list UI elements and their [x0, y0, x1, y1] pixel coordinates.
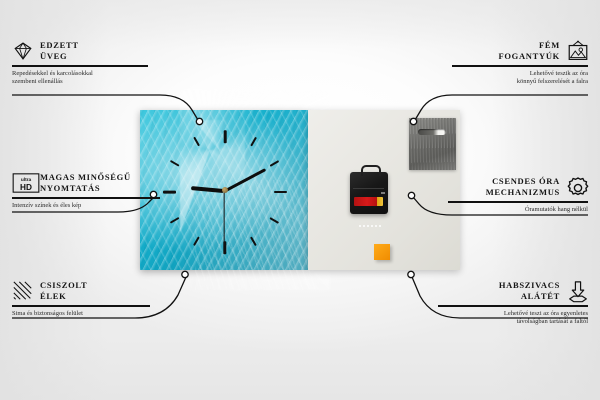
callout-title-line1: FÉM — [498, 40, 560, 51]
callout-divider — [452, 65, 588, 67]
callout-desc-line2: könnyű felszerelését a falra — [438, 78, 588, 87]
callout-desc-line1: Lehetővé teszi az óra egyenletes — [428, 310, 588, 319]
hanger-slot — [418, 129, 446, 135]
metal-hanger-plate — [409, 118, 456, 170]
callout-metal-handles[interactable]: FÉM FOGANTYÚK Lehetővé teszik az óra kön… — [438, 40, 588, 87]
callout-divider — [12, 305, 150, 307]
callout-tempered-glass[interactable]: EDZETT ÜVEG Repedésekkel és karcolásokka… — [12, 40, 162, 87]
callout-desc-line1: Lehetővé teszik az óra — [438, 70, 588, 79]
callout-title-line1: CSENDES ÓRA — [486, 176, 560, 187]
callout-desc-line1: Sima és biztonságos felület — [12, 310, 162, 319]
callout-title-line2: ÉLEK — [40, 291, 87, 302]
callout-title-line2: MECHANIZMUS — [486, 187, 560, 198]
movement-seam — [353, 188, 384, 189]
down-arrow-pad-icon — [566, 280, 588, 302]
clock-hour-hand — [191, 186, 224, 193]
callout-desc-line1: Intenzív színek és éles kép — [12, 202, 172, 211]
callout-title-line1: CSISZOLT — [40, 280, 87, 291]
callout-title-line2: NYOMTATÁS — [40, 183, 131, 194]
clock-movement — [350, 172, 388, 214]
callout-divider — [12, 197, 160, 199]
hanging-picture-icon — [566, 40, 588, 62]
clock-tick — [250, 137, 257, 147]
diagonal-lines-icon — [12, 280, 34, 302]
callout-desc-line1: Repedésekkel és karcolásokkal — [12, 70, 162, 79]
clock-minute-hand — [223, 168, 266, 193]
wire-dot-sanded-edges — [182, 271, 188, 277]
callout-foam-pad[interactable]: HABSZIVACS ALÁTÉT Lehetővé teszi az óra … — [428, 280, 588, 327]
clock-tick — [170, 217, 180, 224]
ultra-hd-icon: ultra HD — [12, 172, 34, 194]
clock-tick — [193, 236, 200, 246]
clock-tick — [269, 160, 279, 167]
movement-hanger-loop — [361, 165, 381, 176]
callout-desc-line1: Óramutatók hang nélkül — [438, 206, 588, 215]
svg-text:HD: HD — [20, 183, 32, 192]
clock-tick — [274, 191, 287, 194]
callout-title-line2: ALÁTÉT — [499, 291, 560, 302]
clock-tick — [250, 236, 257, 246]
clock-center-cap — [222, 187, 228, 193]
callout-title-line1: EDZETT — [40, 40, 79, 51]
callout-divider — [448, 201, 588, 203]
callout-title-line1: HABSZIVACS — [499, 280, 560, 291]
movement-label-dot — [381, 192, 385, 194]
callout-title-line2: ÜVEG — [40, 51, 79, 62]
orange-foam-pad — [374, 244, 390, 260]
clock-tick — [269, 217, 279, 224]
aa-battery — [354, 197, 383, 206]
callout-desc-line2: szembeni ellenállás — [12, 78, 162, 87]
callout-title-line1: MAGAS MINŐSÉGŰ — [40, 172, 131, 183]
feather-pattern-3 — [195, 180, 315, 290]
infographic-canvas: EDZETT ÜVEG Repedésekkel és karcolásokka… — [0, 0, 600, 400]
battery-label — [359, 225, 381, 227]
clock-tick — [223, 130, 226, 143]
clock-second-hand — [223, 191, 224, 246]
callout-sanded-edges[interactable]: CSISZOLT ÉLEK Sima és biztonságos felüle… — [12, 280, 162, 318]
callout-desc-line2: távolságban tartását a faltól — [428, 318, 588, 327]
diamond-icon — [12, 40, 34, 62]
gear-icon — [566, 176, 588, 198]
callout-high-quality-print[interactable]: ultra HD MAGAS MINŐSÉGŰ NYOMTATÁS Intenz… — [12, 172, 172, 210]
wire-dot-foam-pad — [408, 271, 414, 277]
callout-divider — [12, 65, 148, 67]
callout-silent-mechanism[interactable]: CSENDES ÓRA MECHANIZMUS Óramutatók hang … — [438, 176, 588, 214]
clock-tick — [193, 137, 200, 147]
callout-title-line2: FOGANTYÚK — [498, 51, 560, 62]
callout-divider — [438, 305, 588, 307]
product-image — [140, 110, 460, 270]
clock-tick — [170, 160, 180, 167]
